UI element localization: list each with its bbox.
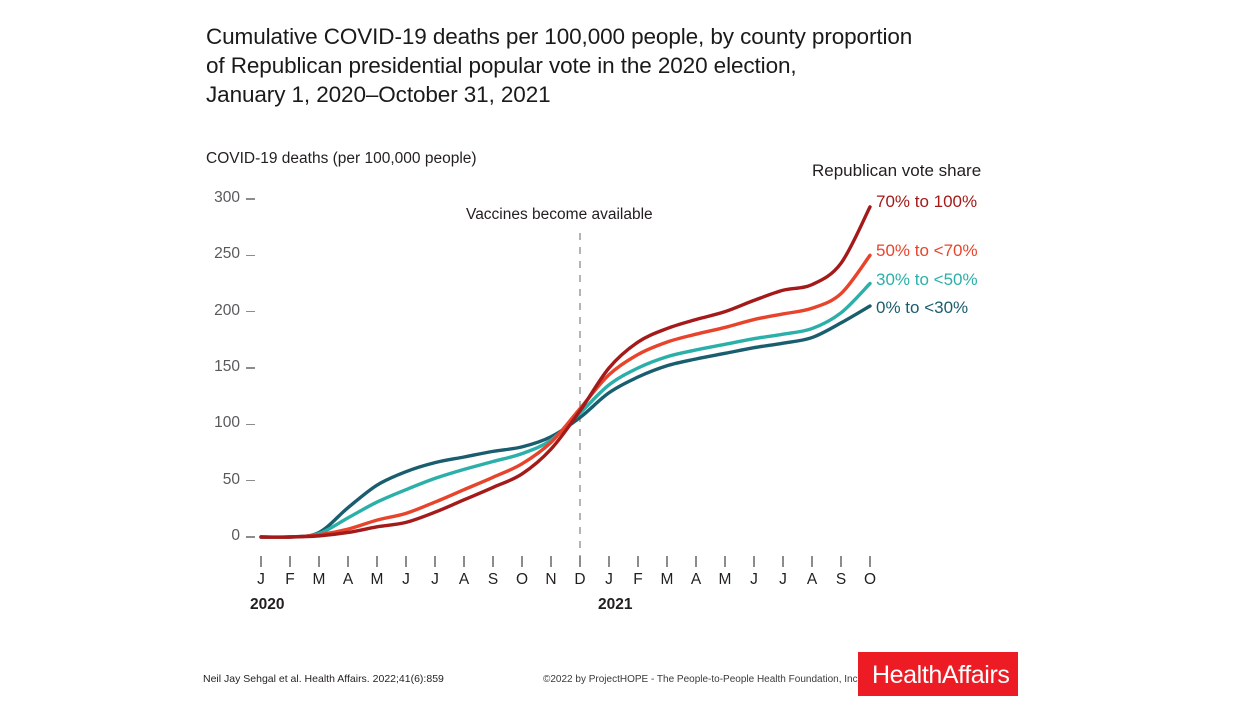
legend-item-2: 50% to <70%	[876, 241, 978, 261]
chart-svg	[0, 0, 1246, 700]
x-axis-month-label: A	[452, 571, 476, 589]
x-axis-month-label: J	[249, 571, 273, 589]
x-axis-tick	[579, 556, 580, 567]
x-axis-tick	[724, 556, 725, 567]
y-axis-tick	[246, 424, 255, 426]
x-axis-month-label: J	[423, 571, 447, 589]
x-axis-tick	[260, 556, 261, 567]
x-axis-tick	[405, 556, 406, 567]
series-line	[261, 284, 870, 538]
logo-label: HealthAffairs	[872, 661, 1009, 690]
citation-text: Neil Jay Sehgal et al. Health Affairs. 2…	[203, 673, 444, 685]
x-axis-month-label: O	[858, 571, 882, 589]
y-axis-tick-label: 0	[188, 527, 240, 545]
series-line	[261, 207, 870, 537]
x-axis-month-label: J	[771, 571, 795, 589]
copyright-text: ©2022 by ProjectHOPE - The People-to-Peo…	[543, 674, 860, 685]
y-axis-tick	[246, 198, 255, 200]
x-axis-month-label: J	[394, 571, 418, 589]
x-axis-tick	[811, 556, 812, 567]
y-axis-tick	[246, 480, 255, 482]
legend-item-3: 30% to <50%	[876, 270, 978, 290]
x-axis-year-label: 2020	[250, 596, 284, 614]
x-axis-month-label: J	[742, 571, 766, 589]
x-axis-tick	[463, 556, 464, 567]
x-axis-month-label: A	[684, 571, 708, 589]
x-axis-month-label: F	[626, 571, 650, 589]
x-axis-tick	[376, 556, 377, 567]
x-axis-year-label: 2021	[598, 596, 632, 614]
x-axis-tick	[608, 556, 609, 567]
x-axis-tick	[782, 556, 783, 567]
series-line	[261, 255, 870, 537]
x-axis-tick	[840, 556, 841, 567]
x-axis-tick	[550, 556, 551, 567]
x-axis-month-label: M	[655, 571, 679, 589]
x-axis-tick	[318, 556, 319, 567]
x-axis-tick	[869, 556, 870, 567]
x-axis-tick	[521, 556, 522, 567]
x-axis-tick	[666, 556, 667, 567]
x-axis-month-label: F	[278, 571, 302, 589]
y-axis-tick	[246, 536, 255, 538]
y-axis-tick-label: 300	[188, 189, 240, 207]
legend-item-4: 0% to <30%	[876, 298, 968, 318]
x-axis-tick	[434, 556, 435, 567]
x-axis-tick	[347, 556, 348, 567]
y-axis-tick-label: 250	[188, 245, 240, 263]
y-axis-tick-label: 150	[188, 358, 240, 376]
y-axis-tick-label: 50	[188, 471, 240, 489]
health-affairs-logo: HealthAffairs	[858, 652, 1018, 696]
x-axis-month-label: J	[597, 571, 621, 589]
legend-item-1: 70% to 100%	[876, 192, 977, 212]
x-axis-month-label: M	[307, 571, 331, 589]
x-axis-month-label: S	[829, 571, 853, 589]
y-axis-tick	[246, 311, 255, 313]
series-line	[261, 306, 870, 537]
x-axis-month-label: N	[539, 571, 563, 589]
x-axis-month-label: O	[510, 571, 534, 589]
x-axis-month-label: D	[568, 571, 592, 589]
x-axis-tick	[695, 556, 696, 567]
x-axis-tick	[289, 556, 290, 567]
x-axis-month-label: A	[800, 571, 824, 589]
y-axis-tick	[246, 367, 255, 369]
y-axis-tick-label: 200	[188, 302, 240, 320]
chart-plot-area: 050100150200250300JFMAMJJASONDJFMAMJJASO…	[0, 0, 1246, 700]
x-axis-tick	[637, 556, 638, 567]
x-axis-tick	[492, 556, 493, 567]
x-axis-month-label: A	[336, 571, 360, 589]
x-axis-tick	[753, 556, 754, 567]
figure-root: Cumulative COVID-19 deaths per 100,000 p…	[0, 0, 1246, 700]
y-axis-tick-label: 100	[188, 414, 240, 432]
x-axis-month-label: M	[713, 571, 737, 589]
x-axis-month-label: M	[365, 571, 389, 589]
x-axis-month-label: S	[481, 571, 505, 589]
y-axis-tick	[246, 255, 255, 257]
